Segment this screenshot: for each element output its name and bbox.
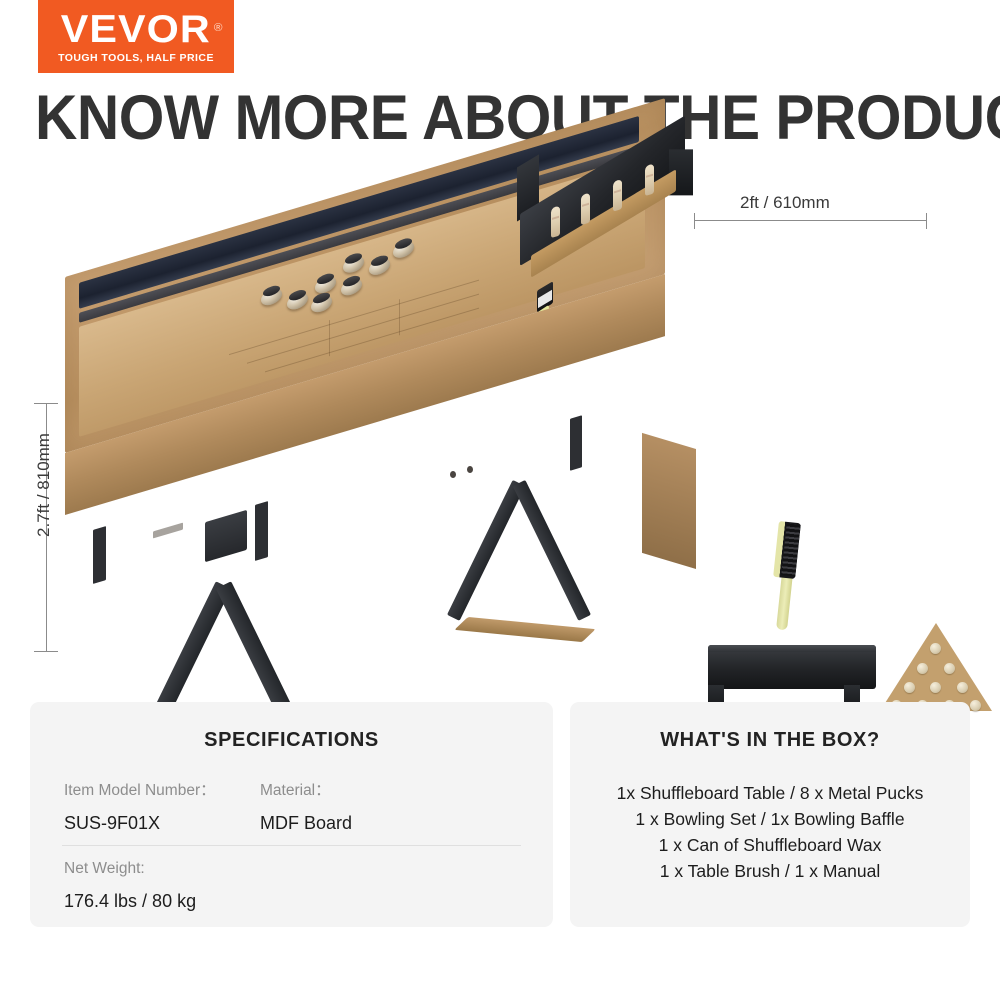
page-title: KNOW MORE ABOUT THE PRODUCT bbox=[35, 82, 965, 154]
bowling-pin bbox=[613, 179, 622, 212]
vevor-logo: VEVOR® TOUGH TOOLS, HALF PRICE bbox=[38, 0, 234, 73]
corner-bracket bbox=[570, 415, 582, 471]
corner-bracket bbox=[255, 501, 268, 561]
width-dimension-cap-end bbox=[926, 213, 927, 229]
specifications-panel: SPECIFICATIONS Item Model Number： SUS-9F… bbox=[30, 702, 553, 927]
table-brand-plate bbox=[153, 523, 183, 539]
whats-in-the-box-panel: WHAT'S IN THE BOX? 1x Shuffleboard Table… bbox=[570, 702, 970, 927]
specifications-title: SPECIFICATIONS bbox=[30, 729, 553, 752]
spec-value: MDF Board bbox=[260, 813, 456, 834]
width-dimension-cap-start bbox=[694, 213, 695, 229]
table-leg-rear-foot bbox=[454, 617, 595, 642]
baffle-top-edge bbox=[708, 645, 876, 652]
bowling-peg bbox=[957, 682, 968, 693]
score-plaque bbox=[205, 510, 247, 563]
whats-in-the-box-title: WHAT'S IN THE BOX? bbox=[570, 729, 970, 752]
spec-divider bbox=[62, 845, 521, 846]
accessory-table-brush bbox=[760, 520, 820, 630]
bowling-pin bbox=[551, 205, 560, 238]
table-end-cap bbox=[642, 433, 696, 569]
registered-trademark-icon: ® bbox=[214, 8, 224, 48]
table-leg-rear-bar-b bbox=[513, 480, 591, 621]
spec-label: Net Weight: bbox=[64, 860, 196, 878]
brand-name: VEVOR bbox=[61, 8, 211, 51]
width-dimension-label: 2ft / 610mm bbox=[740, 193, 830, 213]
width-dimension-line bbox=[694, 220, 927, 221]
bowling-triangle-board bbox=[880, 623, 992, 711]
apron-hole bbox=[467, 466, 473, 473]
brand-tagline: TOUGH TOOLS, HALF PRICE bbox=[58, 52, 214, 64]
spec-field-model: Item Model Number： SUS-9F01X bbox=[64, 778, 260, 834]
bowling-peg bbox=[970, 700, 981, 711]
table-leg-rear-bar-a bbox=[447, 480, 525, 621]
bowling-pin bbox=[645, 163, 654, 196]
spec-value: SUS-9F01X bbox=[64, 813, 260, 834]
corner-bracket bbox=[93, 526, 106, 584]
spec-field-net-weight: Net Weight: 176.4 lbs / 80 kg bbox=[64, 860, 196, 912]
scoring-line-vertical bbox=[329, 320, 330, 356]
height-dimension-label: 2.7ft / 810mm bbox=[34, 405, 54, 565]
infographic-page: VEVOR® TOUGH TOOLS, HALF PRICE KNOW MORE… bbox=[0, 0, 1000, 1000]
specifications-grid: Item Model Number： SUS-9F01X Material： M… bbox=[64, 778, 553, 834]
box-list-item: 1 x Bowling Set / 1x Bowling Baffle bbox=[570, 806, 970, 832]
box-list-item: 1 x Table Brush / 1 x Manual bbox=[570, 858, 970, 884]
scoring-line-vertical bbox=[399, 299, 400, 335]
spec-label: Material： bbox=[260, 778, 456, 800]
brand-wordmark: VEVOR® bbox=[61, 10, 211, 50]
whats-in-the-box-list: 1x Shuffleboard Table / 8 x Metal Pucks … bbox=[570, 780, 970, 884]
bowling-peg bbox=[944, 663, 955, 674]
spec-label: Item Model Number： bbox=[64, 778, 260, 800]
box-list-item: 1 x Can of Shuffleboard Wax bbox=[570, 832, 970, 858]
bowling-peg bbox=[930, 682, 941, 693]
box-list-item: 1x Shuffleboard Table / 8 x Metal Pucks bbox=[570, 780, 970, 806]
bowling-pin bbox=[581, 192, 590, 225]
product-hero: 9ft / 2745mm 2ft / 610mm 2.7ft / 810mm bbox=[0, 175, 1000, 685]
bowling-peg bbox=[930, 643, 941, 654]
shuffleboard-table-image bbox=[55, 235, 695, 655]
spec-value: 176.4 lbs / 80 kg bbox=[64, 891, 196, 912]
apron-hole bbox=[450, 471, 456, 478]
spec-field-material: Material： MDF Board bbox=[260, 778, 456, 834]
bowling-peg bbox=[904, 682, 915, 693]
bowling-peg bbox=[917, 663, 928, 674]
